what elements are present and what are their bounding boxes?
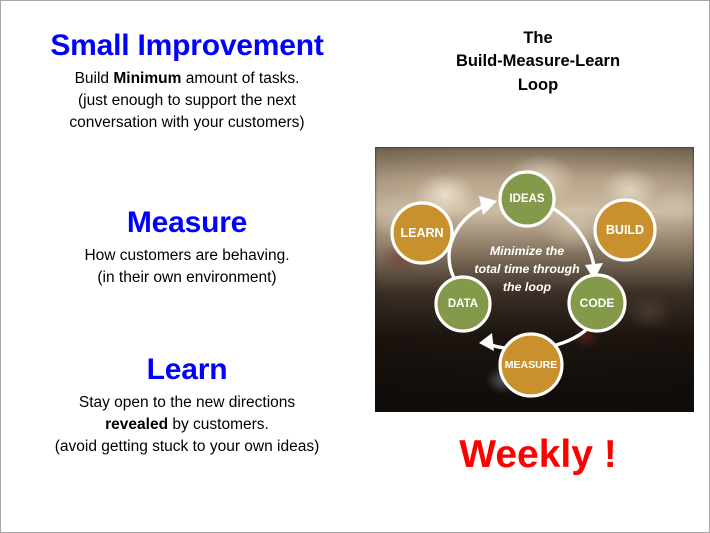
body-line: Build Minimum amount of tasks. (1, 68, 373, 90)
left-text-column: Small Improvement Build Minimum amount o… (1, 1, 373, 533)
body-measure: How customers are behaving. (in their ow… (1, 245, 373, 289)
body-text-bold: revealed (105, 416, 168, 433)
center-caption-line-1: Minimize the (490, 244, 564, 258)
heading-small-improvement: Small Improvement (1, 29, 373, 63)
center-caption-line-2: total time through (474, 262, 580, 276)
body-line: conversation with your customers) (1, 112, 373, 134)
body-line: Stay open to the new directions (1, 392, 373, 414)
measure-label: MEASURE (505, 359, 558, 371)
heading-measure: Measure (1, 206, 373, 240)
body-text: by customers. (168, 416, 269, 433)
body-learn: Stay open to the new directions revealed… (1, 392, 373, 458)
right-diagram-column: The Build-Measure-Learn Loop Minimize th… (373, 1, 710, 533)
presentation-slide: Small Improvement Build Minimum amount o… (0, 0, 710, 533)
build-measure-learn-loop-image: Minimize the total time through the loop… (375, 147, 694, 412)
text-block-learn: Learn Stay open to the new directions re… (1, 353, 373, 458)
loop-node-learn[interactable]: LEARN (392, 203, 452, 263)
body-text-bold: Minimum (113, 70, 181, 87)
body-text: Build (75, 70, 114, 87)
loop-node-measure[interactable]: MEASURE (500, 334, 562, 396)
code-label: CODE (580, 296, 615, 310)
arrow-ideas-to-code (554, 209, 594, 267)
loop-title-line: The (373, 27, 703, 50)
loop-diagram-svg: Minimize the total time through the loop… (375, 147, 694, 412)
arrow-head-to-data (479, 333, 494, 351)
center-caption-line-3: the loop (503, 280, 552, 294)
loop-node-build[interactable]: BUILD (595, 200, 655, 260)
loop-title-line: Loop (373, 74, 703, 97)
data-label: DATA (448, 298, 478, 310)
weekly-callout: Weekly ! (373, 435, 703, 474)
body-line: How customers are behaving. (1, 245, 373, 267)
body-line: (avoid getting stuck to your own ideas) (1, 436, 373, 458)
body-line: (just enough to support the next (1, 90, 373, 112)
heading-learn: Learn (1, 353, 373, 387)
loop-node-ideas[interactable]: IDEAS (500, 172, 554, 226)
ideas-label: IDEAS (509, 193, 544, 205)
body-small-improvement: Build Minimum amount of tasks. (just eno… (1, 68, 373, 134)
arrow-head-to-ideas (479, 196, 497, 215)
learn-label: LEARN (400, 226, 443, 240)
loop-node-code[interactable]: CODE (569, 275, 625, 331)
text-block-small-improvement: Small Improvement Build Minimum amount o… (1, 29, 373, 134)
body-line: revealed by customers. (1, 414, 373, 436)
loop-title-line: Build-Measure-Learn (373, 50, 703, 73)
loop-title: The Build-Measure-Learn Loop (373, 27, 703, 97)
text-block-measure: Measure How customers are behaving. (in … (1, 206, 373, 289)
loop-node-data[interactable]: DATA (436, 277, 490, 331)
body-line: (in their own environment) (1, 267, 373, 289)
body-text: amount of tasks. (181, 70, 299, 87)
build-label: BUILD (606, 223, 644, 237)
